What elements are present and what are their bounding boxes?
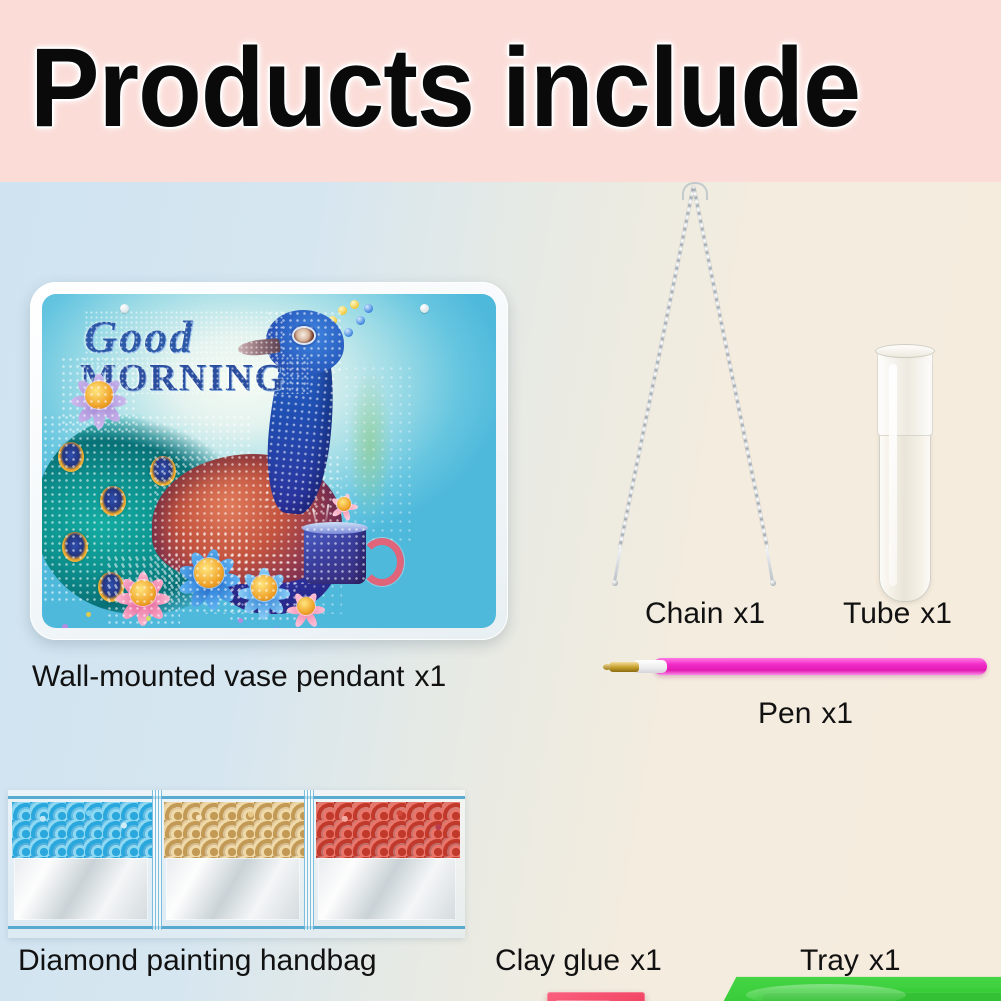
header-banner: Products include <box>0 0 1001 182</box>
pen-image <box>605 654 987 682</box>
item-quantity: x1 <box>869 944 901 977</box>
product-inclusions-infographic: Products include <box>0 0 1001 1001</box>
item-name: Wall-mounted vase pendant <box>32 660 404 693</box>
wall-mounted-vase-pendant-label: Wall-mounted vase pendantx1 <box>32 660 446 694</box>
tube-rim <box>875 344 935 358</box>
item-name: Tray <box>800 944 859 977</box>
foil-label <box>166 858 300 920</box>
tube-highlight <box>889 364 897 586</box>
tube-cap <box>877 350 933 436</box>
chain-end-pin-left <box>613 548 622 582</box>
chain-image <box>590 182 800 602</box>
chain-label: Chainx1 <box>645 597 765 631</box>
feather-eyespot <box>58 442 84 472</box>
item-name: Chain <box>645 597 723 630</box>
mounting-hole-left <box>120 304 129 313</box>
diamond-painting-handbag-image <box>8 790 465 938</box>
item-name: Tube <box>843 597 910 630</box>
small-pink-flower <box>280 580 332 628</box>
plaque-artwork: Good MORNING <box>42 294 496 628</box>
item-name: Diamond painting handbag <box>18 944 377 977</box>
tube-image <box>875 340 935 602</box>
handbag-compartment-blue <box>12 794 152 934</box>
pen-tip <box>609 662 639 672</box>
page-title: Products include <box>30 32 860 144</box>
item-name: Pen <box>758 697 811 730</box>
products-canvas: Good MORNING <box>0 182 1001 1001</box>
mug-handle <box>360 538 404 586</box>
foil-label <box>318 858 456 920</box>
artwork-text-good: Good <box>84 310 284 356</box>
accent-flower <box>324 484 364 524</box>
pen-label: Penx1 <box>758 697 853 731</box>
peacock-eye <box>294 328 314 343</box>
mounting-hole-right <box>420 304 429 313</box>
item-quantity: x1 <box>733 597 765 630</box>
handbag-compartment-red <box>316 794 460 934</box>
tray-label: Trayx1 <box>800 944 901 978</box>
item-quantity: x1 <box>414 660 446 693</box>
tray-image <box>700 974 1001 1001</box>
purple-flower <box>60 356 138 434</box>
chain-end-pin-right <box>765 548 774 582</box>
clay-glue-label: Clay gluex1 <box>495 944 662 978</box>
handbag-compartment-gold <box>164 794 304 934</box>
wall-mounted-vase-pendant-image: Good MORNING <box>30 282 508 640</box>
feather-eyespot <box>62 532 88 562</box>
item-name: Clay glue <box>495 944 620 977</box>
foil-label <box>14 858 148 920</box>
pen-barrel <box>653 658 987 675</box>
feather-eyespot <box>100 486 126 516</box>
tube-label: Tubex1 <box>843 597 952 631</box>
diamond-painting-handbag-label: Diamond painting handbag <box>18 944 387 978</box>
item-quantity: x1 <box>920 597 952 630</box>
tray-highlight <box>746 984 906 1001</box>
item-quantity: x1 <box>630 944 662 977</box>
coffee-mug <box>304 526 366 584</box>
item-quantity: x1 <box>821 697 853 730</box>
clay-glue-image <box>547 992 645 1001</box>
